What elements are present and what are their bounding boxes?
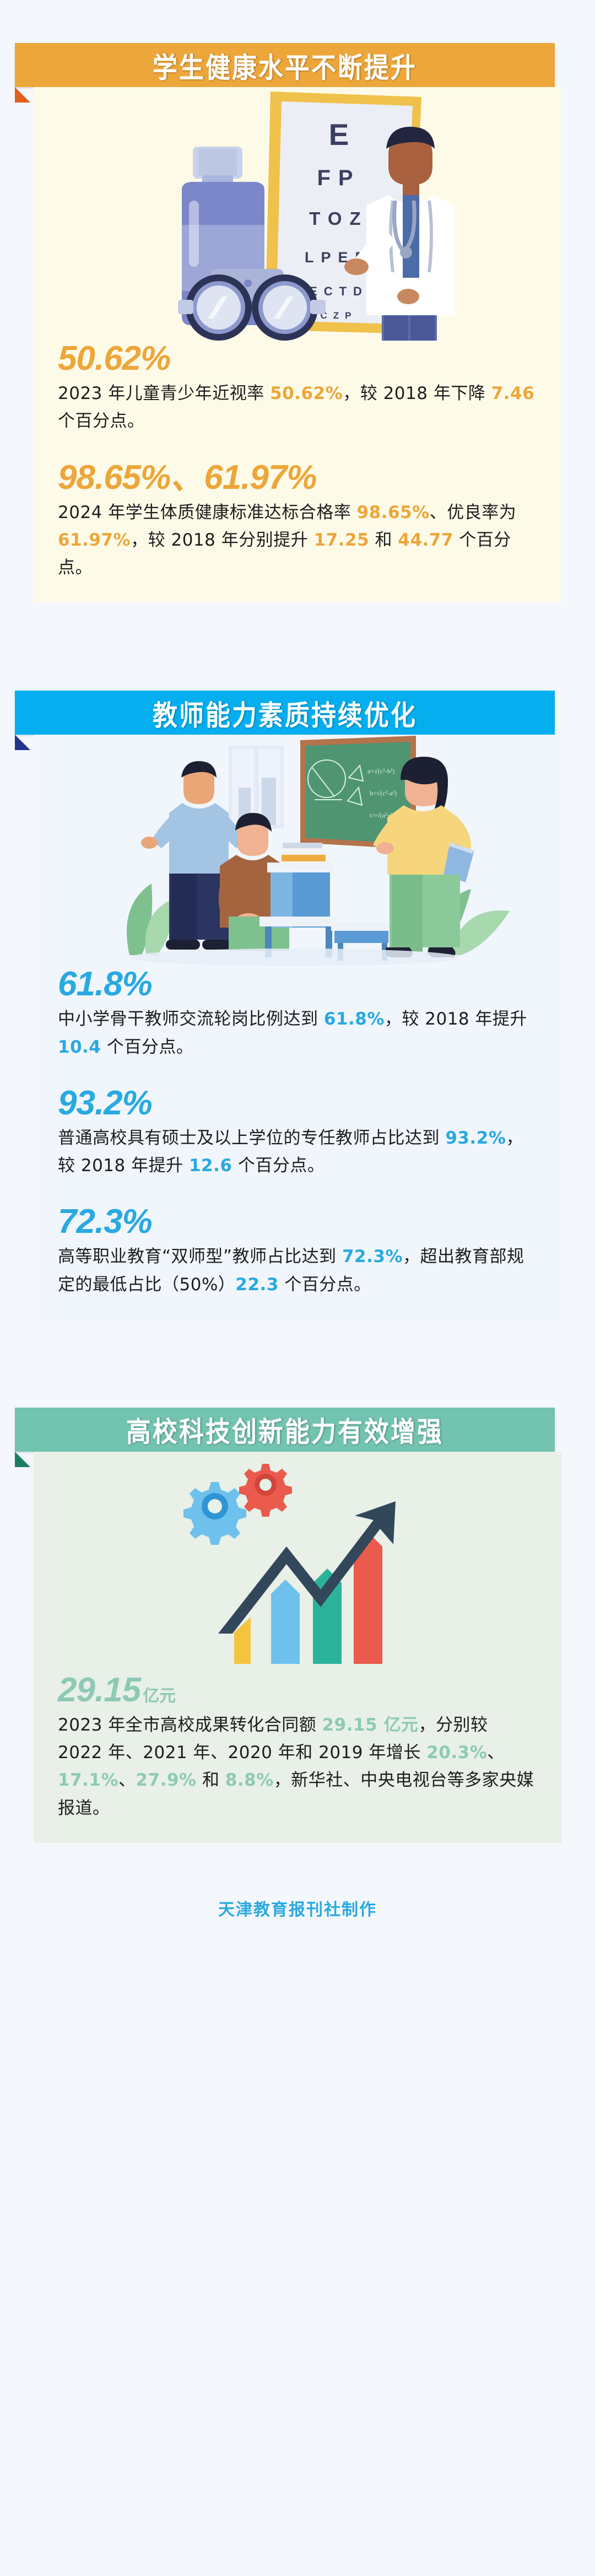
card-university-innovation: 29.15亿元 2023 年全市高校成果转化合同额 29.15 亿元，分别较 2… — [34, 1452, 561, 1843]
highlight-value: 98.65% — [357, 503, 430, 522]
stat-block: 72.3% 高等职业教育“双师型”教师占比达到 72.3%，超出教育部规定的最低… — [34, 1204, 561, 1298]
banner-student-health: 学生健康水平不断提升 — [15, 43, 555, 87]
red-gear-icon — [239, 1464, 292, 1517]
section-student-health: 学生健康水平不断提升 E FP TOZ LPED ECTD CZP — [0, 0, 595, 602]
svg-text:E: E — [329, 117, 349, 152]
highlight-value: 17.1% — [58, 1770, 118, 1790]
stat-description: 中小学骨干教师交流轮岗比例达到 61.8%，较 2018 年提升 10.4 个百… — [58, 1005, 537, 1060]
banner-bar: 教师能力素质持续优化 — [15, 691, 555, 735]
stat-value: 98.65%、61.97% — [58, 460, 537, 495]
stat-unit: 亿元 — [140, 1687, 176, 1705]
svg-text:TOZ: TOZ — [309, 208, 368, 229]
ribbon-fold-icon — [15, 87, 30, 103]
stat-description: 高等职业教育“双师型”教师占比达到 72.3%，超出教育部规定的最低占比（50%… — [58, 1243, 537, 1298]
card-body: 29.15亿元 2023 年全市高校成果转化合同额 29.15 亿元，分别较 2… — [34, 1452, 561, 1843]
highlight-value: 29.15 亿元 — [322, 1715, 419, 1735]
bar-blue — [271, 1580, 300, 1664]
banner-title: 教师能力素质持续优化 — [153, 693, 417, 733]
banner-bar: 学生健康水平不断提升 — [15, 43, 555, 87]
highlight-value: 22.3 — [235, 1275, 279, 1295]
stat-value: 61.8% — [58, 966, 537, 1002]
banner-title: 高校科技创新能力有效增强 — [126, 1409, 443, 1449]
ribbon-fold-icon — [15, 735, 30, 750]
card-student-health: E FP TOZ LPED ECTD CZP — [34, 87, 561, 602]
classroom-teaching-illustration: a=√(c²-b²) b=√(c²-a²) c=√(a²+b²) — [34, 735, 561, 966]
stat-description: 2024 年学生体质健康标准达标合格率 98.65%、优良率为 61.97%，较… — [58, 499, 537, 582]
banner-bar: 高校科技创新能力有效增强 — [15, 1408, 555, 1452]
card-body: E FP TOZ LPED ECTD CZP — [34, 87, 561, 602]
banner-teacher-quality: 教师能力素质持续优化 — [15, 691, 555, 735]
growth-chart-gears-illustration — [34, 1452, 561, 1672]
highlight-value: 7.46 — [491, 384, 535, 403]
stat-description: 2023 年儿童青少年近视率 50.62%，较 2018 年下降 7.46 个百… — [58, 380, 537, 435]
svg-text:FP: FP — [317, 166, 360, 190]
highlight-value: 44.77 — [398, 530, 453, 550]
card-body: a=√(c²-b²) b=√(c²-a²) c=√(a²+b²) — [34, 735, 561, 1319]
stat-value: 50.62% — [58, 341, 537, 376]
stat-block: 50.62% 2023 年儿童青少年近视率 50.62%，较 2018 年下降 … — [34, 341, 561, 435]
svg-text:CZP: CZP — [321, 310, 358, 321]
svg-text:a=√(c²-b²): a=√(c²-b²) — [367, 767, 394, 775]
stat-number: 29.15 — [58, 1671, 140, 1709]
stat-description: 2023 年全市高校成果转化合同额 29.15 亿元，分别较 2022 年、20… — [58, 1711, 537, 1822]
highlight-value: 61.8% — [324, 1009, 385, 1029]
stat-block: 98.65%、61.97% 2024 年学生体质健康标准达标合格率 98.65%… — [34, 460, 561, 582]
section-university-innovation: 高校科技创新能力有效增强 — [0, 1319, 595, 1843]
highlight-value: 27.9% — [136, 1770, 197, 1790]
highlight-value: 93.2% — [445, 1128, 506, 1148]
footer-credit: 天津教育报刊社制作 — [0, 1843, 595, 1986]
banner-title: 学生健康水平不断提升 — [153, 45, 417, 85]
stat-value: 72.3% — [58, 1204, 537, 1240]
svg-text:b=√(c²-a²): b=√(c²-a²) — [370, 789, 397, 797]
stat-block: 93.2% 普通高校具有硕士及以上学位的专任教师占比达到 93.2%，较 201… — [34, 1085, 561, 1180]
card-teacher-quality: a=√(c²-b²) b=√(c²-a²) c=√(a²+b²) — [34, 735, 561, 1319]
stat-block: 29.15亿元 2023 年全市高校成果转化合同额 29.15 亿元，分别较 2… — [34, 1672, 561, 1822]
highlight-value: 17.25 — [314, 530, 370, 550]
highlight-value: 10.4 — [58, 1037, 101, 1057]
stat-block: 61.8% 中小学骨干教师交流轮岗比例达到 61.8%，较 2018 年提升 1… — [34, 966, 561, 1061]
banner-university-innovation: 高校科技创新能力有效增强 — [15, 1408, 555, 1452]
highlight-value: 20.3% — [426, 1743, 487, 1763]
highlight-value: 61.97% — [58, 530, 131, 550]
highlight-value: 12.6 — [189, 1156, 232, 1176]
highlight-value: 50.62% — [270, 384, 343, 403]
highlight-value: 72.3% — [342, 1247, 403, 1267]
ribbon-fold-icon — [15, 1452, 30, 1467]
eye-exam-illustration: E FP TOZ LPED ECTD CZP — [34, 87, 561, 341]
svg-text:ECTD: ECTD — [309, 284, 369, 298]
blue-gear-icon — [183, 1482, 246, 1545]
highlight-value: 8.8% — [225, 1770, 274, 1790]
stat-description: 普通高校具有硕士及以上学位的专任教师占比达到 93.2%，较 2018 年提升 … — [58, 1124, 537, 1179]
stat-value: 93.2% — [58, 1085, 537, 1121]
stat-value: 29.15亿元 — [58, 1672, 537, 1708]
section-teacher-quality: 教师能力素质持续优化 — [0, 602, 595, 1319]
